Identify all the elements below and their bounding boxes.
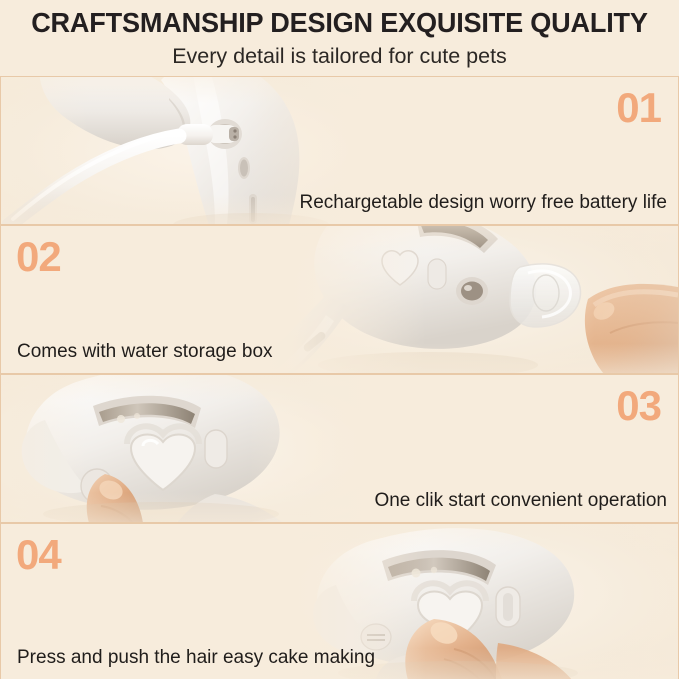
feature-panel-list: White pet grooming device with charging … xyxy=(0,76,679,679)
feature-caption: Press and push the hair easy cake making xyxy=(17,646,375,670)
product-photo: Hand attaching clear water storage box t… xyxy=(258,226,678,373)
feature-panel-inner: Close up of thumb pressing heart shaped … xyxy=(1,375,678,522)
feature-panel-inner: Hand holding white device and pressing t… xyxy=(1,524,678,679)
feature-number-badge: 02 xyxy=(16,236,61,278)
water-box-illustration xyxy=(258,226,678,373)
feature-panel: Hand holding white device and pressing t… xyxy=(0,523,679,679)
feature-panel: White pet grooming device with charging … xyxy=(0,76,679,225)
product-photo: Close up of thumb pressing heart shaped … xyxy=(1,375,401,522)
page-title: CRAFTSMANSHIP DESIGN EXQUISITE QUALITY xyxy=(5,6,674,40)
infographic-header: CRAFTSMANSHIP DESIGN EXQUISITE QUALITY E… xyxy=(0,0,679,76)
feature-caption: One clik start convenient operation xyxy=(374,489,667,513)
feature-number-badge: 03 xyxy=(616,385,661,427)
feature-panel-inner: Hand attaching clear water storage box t… xyxy=(1,226,678,373)
feature-panel-inner: White pet grooming device with charging … xyxy=(1,77,678,224)
feature-panel: Hand attaching clear water storage box t… xyxy=(0,225,679,374)
one-click-button-illustration xyxy=(1,375,401,522)
feature-caption: Comes with water storage box xyxy=(17,340,273,364)
page-subtitle: Every detail is tailored for cute pets xyxy=(0,41,679,71)
feature-panel: Close up of thumb pressing heart shaped … xyxy=(0,374,679,523)
feature-number-badge: 01 xyxy=(616,87,661,129)
feature-number-badge: 04 xyxy=(16,534,61,576)
feature-caption: Rechargetable design worry free battery … xyxy=(299,191,667,215)
